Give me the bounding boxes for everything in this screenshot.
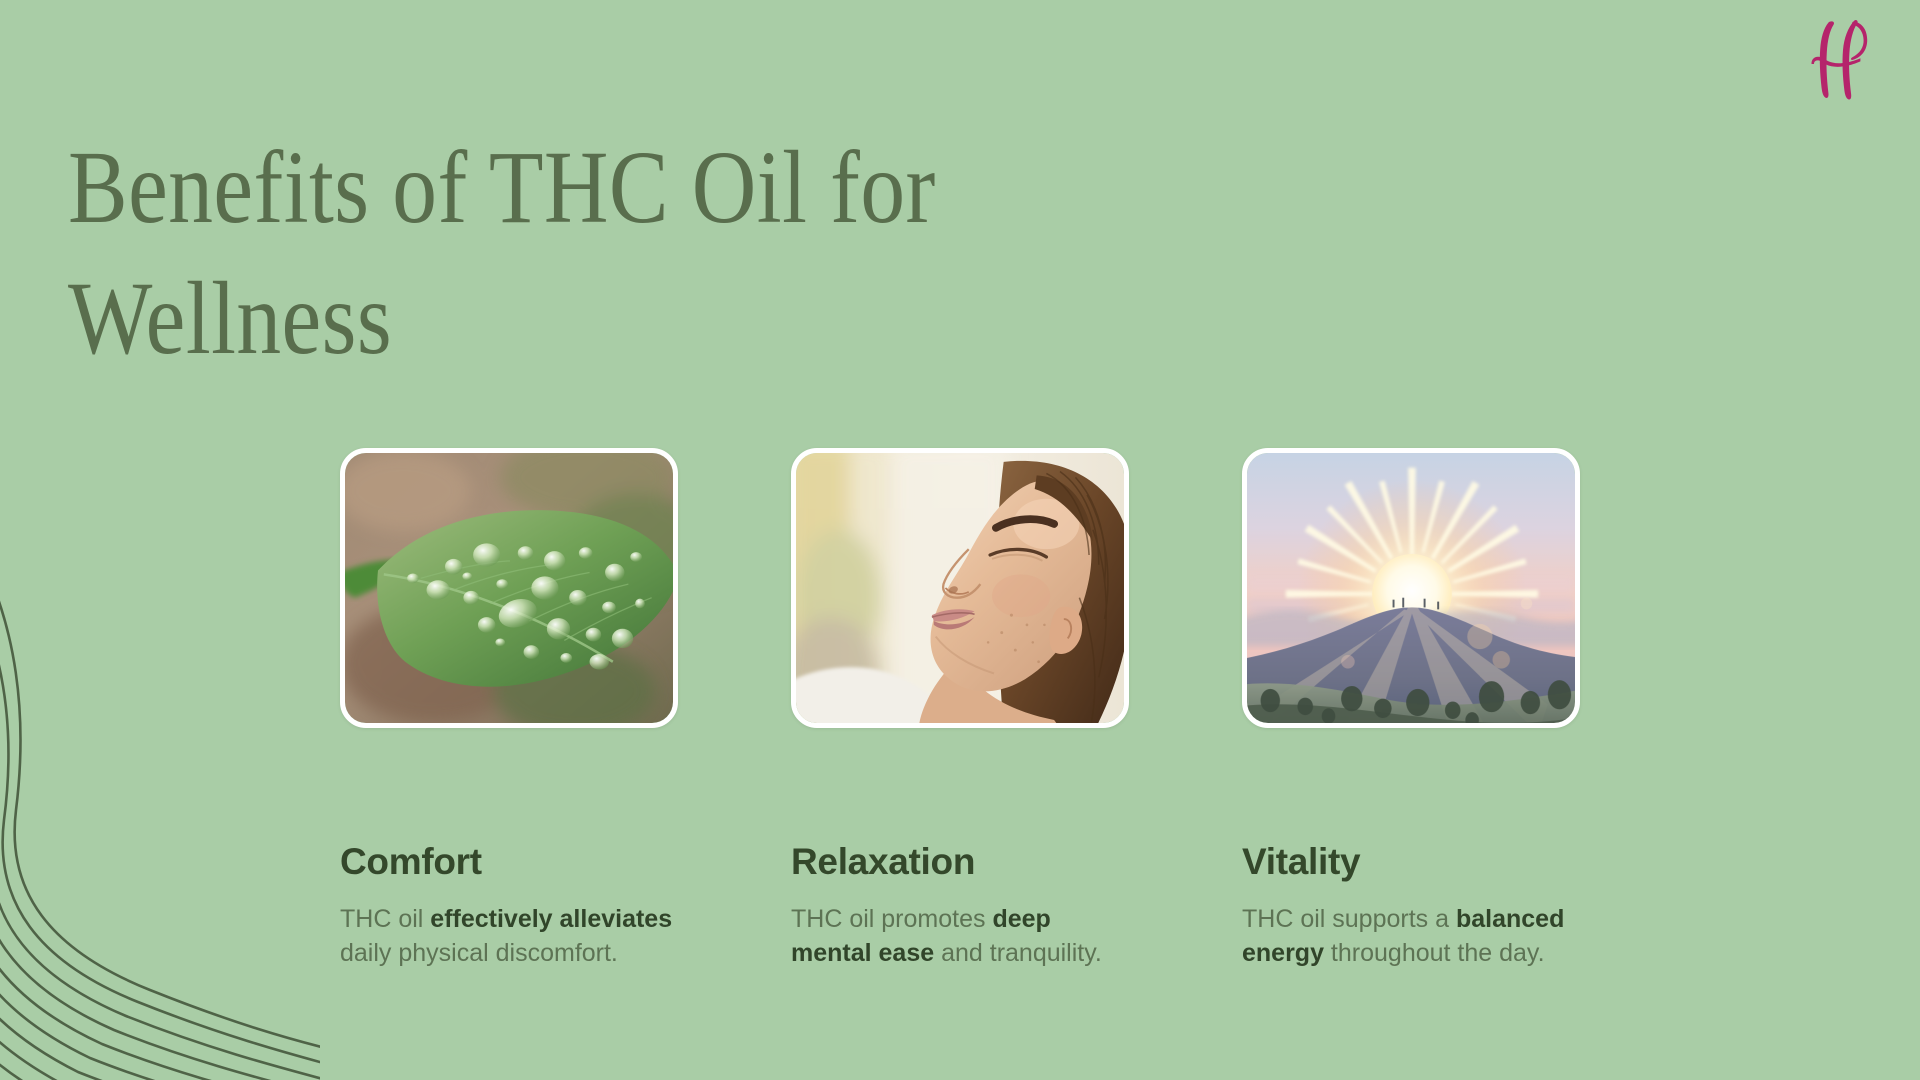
benefit-card-comfort: Comfort THC oil effectively alleviates d… — [340, 448, 678, 970]
card-body: THC oil supports a balanced energy throu… — [1242, 902, 1580, 971]
card-body-lead: THC oil — [340, 905, 430, 933]
script-letter-h-logo — [1802, 16, 1882, 102]
card-body-lead: THC oil promotes — [791, 905, 992, 933]
sunrise-over-hill-photo — [1247, 453, 1575, 723]
card-title: Comfort — [340, 843, 678, 882]
photo-frame — [791, 448, 1129, 728]
card-body-tail: daily physical discomfort. — [340, 939, 618, 967]
card-body-tail: and tranquility. — [934, 939, 1102, 967]
photo-frame — [1242, 448, 1580, 728]
benefit-card-vitality: Vitality THC oil supports a balanced ene… — [1242, 448, 1580, 970]
green-leaf-with-water-droplets-photo — [345, 453, 673, 723]
card-body-tail: throughout the day. — [1324, 939, 1545, 967]
benefit-card-relaxation: Relaxation THC oil promotes deep mental … — [791, 448, 1129, 970]
photo-frame — [340, 448, 678, 728]
card-body-emphasis: effectively alleviates — [430, 905, 672, 933]
wave-lines-pattern — [0, 520, 320, 1080]
relaxed-woman-face-photo — [796, 453, 1124, 723]
card-title: Vitality — [1242, 843, 1580, 882]
page-title: Benefits of THC Oil for Wellness — [68, 122, 1186, 384]
card-body-lead: THC oil supports a — [1242, 905, 1456, 933]
card-body: THC oil effectively alleviates daily phy… — [340, 902, 678, 971]
card-body: THC oil promotes deep mental ease and tr… — [791, 902, 1129, 971]
slide-canvas: Benefits of THC Oil for Wellness — [0, 0, 1920, 1080]
card-title: Relaxation — [791, 843, 1129, 882]
benefit-cards-row: Comfort THC oil effectively alleviates d… — [340, 448, 1582, 970]
